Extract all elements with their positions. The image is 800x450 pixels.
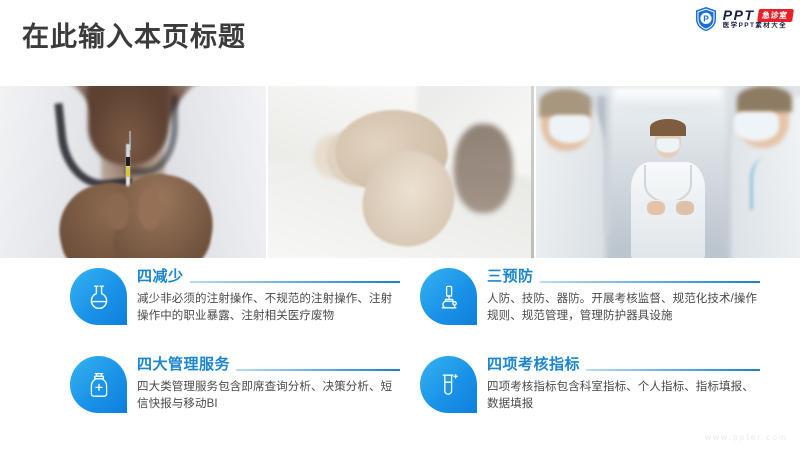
medicine-bottle-icon: [70, 356, 127, 413]
heading-underline: [190, 281, 400, 283]
feature-body: 减少非必须的注射操作、不规范的注射操作、注射操作中的职业暴露、注射相关医疗废物: [137, 291, 400, 327]
feature-item-1[interactable]: 四减少 减少非必须的注射操作、不规范的注射操作、注射操作中的职业暴露、注射相关医…: [70, 268, 400, 326]
feature-heading: 四大管理服务: [137, 357, 230, 374]
feature-heading: 三预防: [487, 269, 534, 286]
shield-icon: P: [694, 6, 718, 32]
photo-band: [0, 86, 800, 258]
watermark: www.ppter.com: [705, 433, 788, 442]
logo-badge: 急诊室: [757, 9, 793, 22]
photo-medical-team: [536, 86, 800, 258]
logo-subtitle: 医学PPT素材大全: [723, 23, 792, 30]
microscope-icon: [420, 268, 477, 325]
feature-body: 四项考核指标包含科室指标、个人指标、指标填报、数据填报: [487, 379, 760, 415]
feature-body: 四大类管理服务包含即席查询分析、决策分析、短信快报与移动BI: [137, 379, 400, 415]
heading-underline: [586, 369, 760, 371]
page-title: 在此输入本页标题: [22, 24, 246, 51]
feature-item-2[interactable]: 三预防 人防、技防、器防。开展考核监督、规范化技术/操作规则、规范管理，管理防护…: [420, 268, 760, 326]
feature-body: 人防、技防、器防。开展考核监督、规范化技术/操作规则、规范管理，管理防护器具设施: [487, 291, 760, 327]
test-tube-icon: [420, 356, 477, 413]
heading-underline: [236, 369, 400, 371]
photo-gloved-hands: [268, 86, 534, 258]
flask-icon: [70, 268, 127, 325]
feature-heading: 四项考核指标: [487, 357, 580, 374]
photo-doctor-syringe: [0, 86, 266, 258]
logo-brand-text: PPT: [723, 8, 755, 22]
feature-item-3[interactable]: 四大管理服务 四大类管理服务包含即席查询分析、决策分析、短信快报与移动BI: [70, 356, 400, 414]
svg-text:P: P: [703, 14, 709, 24]
brand-logo: P PPT 急诊室 医学PPT素材大全: [694, 4, 792, 34]
feature-item-4[interactable]: 四项考核指标 四项考核指标包含科室指标、个人指标、指标填报、数据填报: [420, 356, 760, 414]
heading-underline: [540, 281, 760, 283]
feature-heading: 四减少: [137, 269, 184, 286]
feature-list: 四减少 减少非必须的注射操作、不规范的注射操作、注射操作中的职业暴露、注射相关医…: [0, 262, 800, 427]
